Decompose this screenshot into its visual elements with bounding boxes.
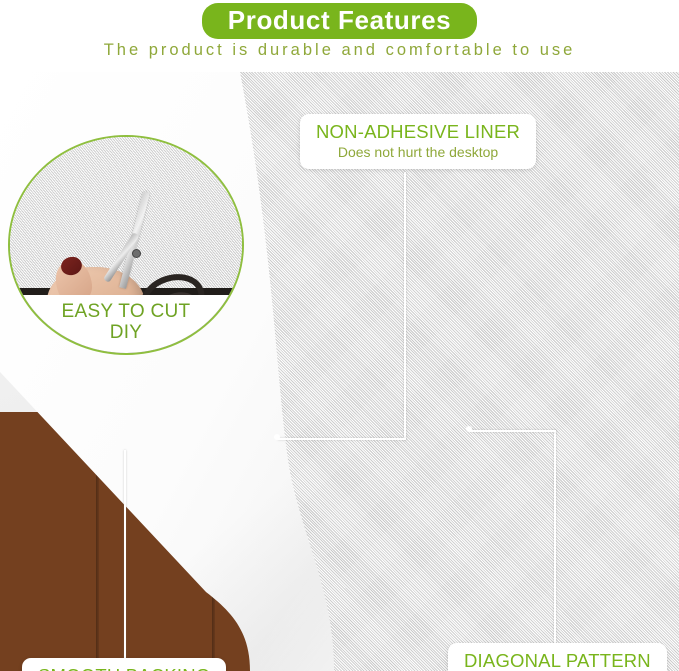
leader-line-non-adhesive-vertical — [404, 172, 406, 440]
callout-diagonal-pattern: DIAGONAL PATTERN Products are cleaner — [448, 643, 667, 671]
circle-label-line-1: EASY TO CUT — [10, 301, 242, 322]
leader-dot-non-adhesive — [274, 434, 280, 440]
callout-title: DIAGONAL PATTERN — [464, 650, 651, 671]
circle-label-line-2: DIY — [10, 322, 242, 343]
callout-title: SMOOTH BACKING — [38, 665, 210, 671]
leader-line-diagonal-horizontal — [470, 430, 556, 432]
header-banner: Product Features The product is durable … — [0, 0, 679, 72]
callout-non-adhesive-liner: NON-ADHESIVE LINER Does not hurt the des… — [300, 114, 536, 169]
callout-subtitle: Does not hurt the desktop — [316, 143, 520, 161]
leader-dot-diagonal — [466, 426, 472, 432]
header-subtitle: The product is durable and comfortable t… — [0, 41, 679, 60]
callout-title: NON-ADHESIVE LINER — [316, 121, 520, 142]
circle-inset-label: EASY TO CUT DIY — [10, 295, 242, 353]
leader-line-smooth-backing — [124, 450, 126, 662]
callout-smooth-backing: SMOOTH BACKING Products are cleaner — [22, 658, 226, 671]
leader-line-diagonal-vertical — [554, 430, 556, 645]
page-title-badge: Product Features — [202, 3, 477, 39]
easy-to-cut-circle-inset: EASY TO CUT DIY — [8, 135, 244, 355]
leader-line-non-adhesive-horizontal — [278, 438, 406, 440]
badge-container: Product Features — [0, 3, 679, 39]
product-feature-infographic: Product Features The product is durable … — [0, 0, 679, 671]
product-photo: EASY TO CUT DIY NON-ADHESIVE LINER Does … — [0, 72, 679, 671]
